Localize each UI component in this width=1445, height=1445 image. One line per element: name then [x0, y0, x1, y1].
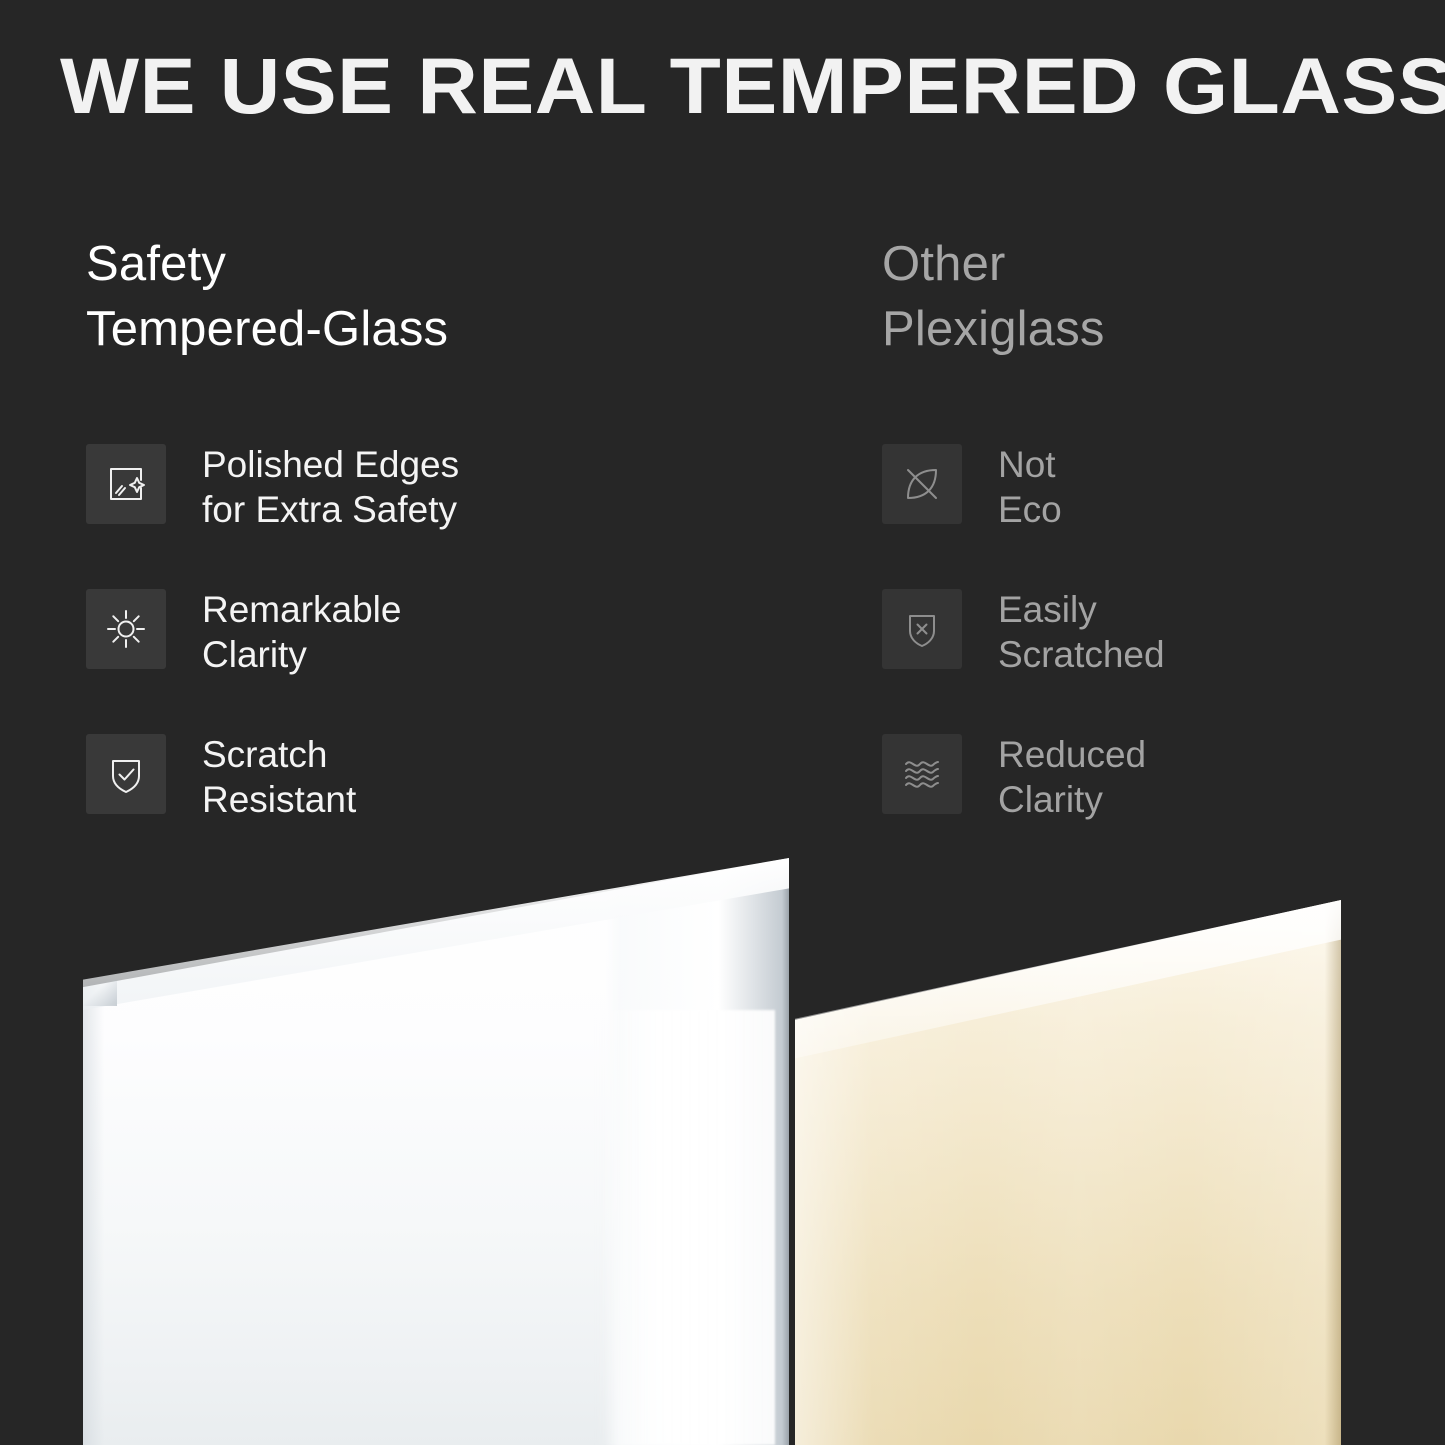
comparison-infographic: WE USE REAL TEMPERED GLASS Safety Temper… [0, 0, 1445, 1445]
column-tempered-glass: Safety Tempered-Glass [86, 232, 826, 362]
wavy-lines-blur-icon [882, 734, 962, 814]
feature-row: Remarkable Clarity [86, 585, 806, 730]
feature-row: Easily Scratched [882, 585, 1402, 730]
shield-check-icon [86, 734, 166, 814]
sun-clarity-icon [86, 589, 166, 669]
feature-label: Polished Edges for Extra Safety [202, 440, 459, 532]
feature-row: Polished Edges for Extra Safety [86, 440, 806, 585]
feature-label: Not Eco [998, 440, 1062, 532]
polished-glass-pane-sparkle-icon [86, 444, 166, 524]
tempered-glass-panel-rounded-corner [83, 980, 117, 1006]
glass-panel-comparison-image [0, 840, 1445, 1445]
leaf-crossed-out-icon [882, 444, 962, 524]
feature-label: Scratch Resistant [202, 730, 356, 822]
feature-label: Reduced Clarity [998, 730, 1146, 822]
column-heading-tempered-glass: Safety Tempered-Glass [86, 232, 826, 362]
feature-list-tempered-glass: Polished Edges for Extra Safety Remarkab… [86, 440, 806, 875]
feature-row: Not Eco [882, 440, 1402, 585]
feature-label: Remarkable Clarity [202, 585, 401, 677]
feature-label: Easily Scratched [998, 585, 1165, 677]
column-plexiglass: Other Plexiglass [882, 232, 1402, 362]
tempered-glass-panel-reflection [595, 1010, 775, 1445]
shield-x-icon [882, 589, 962, 669]
column-heading-plexiglass: Other Plexiglass [882, 232, 1402, 362]
page-title: WE USE REAL TEMPERED GLASS [60, 36, 1445, 136]
feature-list-plexiglass: Not Eco Easily Scratched [882, 440, 1402, 875]
